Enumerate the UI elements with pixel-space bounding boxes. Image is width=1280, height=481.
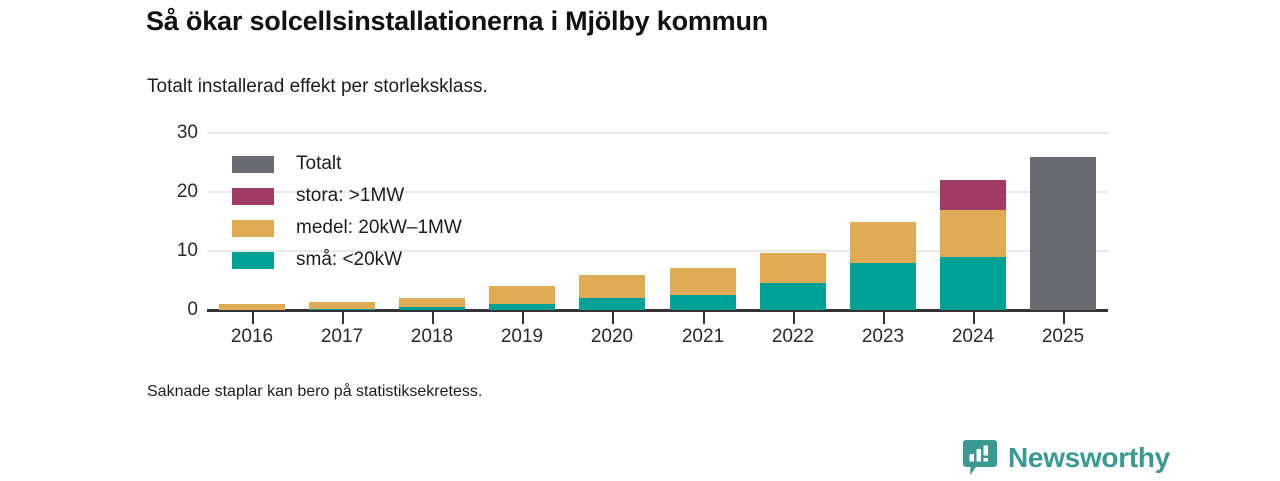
bar-segment: [489, 286, 555, 304]
x-tick-mark: [612, 312, 614, 324]
legend-item[interactable]: stora: >1MW: [232, 180, 462, 212]
brand-name: Newsworthy: [1008, 444, 1170, 472]
bar-segment: [940, 210, 1006, 257]
x-tick-mark: [1063, 312, 1065, 324]
legend-label: medel: 20kW–1MW: [296, 217, 462, 239]
x-tick-mark: [252, 312, 254, 324]
x-tick-label: 2017: [297, 326, 387, 348]
legend-swatch: [232, 252, 274, 269]
x-tick-label: 2016: [207, 326, 297, 348]
gridline-30: [207, 132, 1108, 134]
x-tick-label: 2019: [477, 326, 567, 348]
bar-segment: [760, 283, 826, 310]
bar-segment: [760, 253, 826, 284]
legend-label: små: <20kW: [296, 249, 402, 271]
legend-item[interactable]: Totalt: [232, 148, 462, 180]
x-tick-label: 2018: [387, 326, 477, 348]
chart-canvas: Så ökar solcellsinstallationerna i Mjölb…: [0, 0, 1280, 480]
bar-segment: [219, 304, 285, 310]
y-tick-label: 20: [154, 182, 198, 201]
bar-segment: [309, 309, 375, 310]
bar-segment: [309, 302, 375, 309]
legend-label: Totalt: [296, 153, 341, 175]
bar-segment: [670, 295, 736, 310]
bar-segment: [399, 298, 465, 307]
x-tick-mark: [883, 312, 885, 324]
bar-segment: [940, 257, 1006, 310]
y-tick-label: 30: [154, 123, 198, 142]
legend-swatch: [232, 188, 274, 205]
x-tick-label: 2021: [658, 326, 748, 348]
bar-segment: [489, 304, 555, 310]
legend-item[interactable]: medel: 20kW–1MW: [232, 212, 462, 244]
x-tick-mark: [973, 312, 975, 324]
bar-segment: [850, 222, 916, 263]
bar-segment: [670, 268, 736, 296]
chart-legend: Totaltstora: >1MWmedel: 20kW–1MWsmå: <20…: [232, 148, 462, 276]
chart-title: Så ökar solcellsinstallationerna i Mjölb…: [146, 6, 768, 37]
x-tick-mark: [793, 312, 795, 324]
x-tick-mark: [432, 312, 434, 324]
bar-segment: [399, 307, 465, 310]
legend-item[interactable]: små: <20kW: [232, 244, 462, 276]
x-tick-label: 2022: [748, 326, 838, 348]
newsworthy-logo: Newsworthy: [963, 440, 1170, 476]
x-tick-label: 2025: [1018, 326, 1108, 348]
bar-segment: [850, 263, 916, 310]
legend-swatch: [232, 220, 274, 237]
x-tick-label: 2020: [567, 326, 657, 348]
chart-footnote: Saknade staplar kan bero på statistiksek…: [147, 383, 482, 401]
x-tick-label: 2023: [838, 326, 928, 348]
y-tick-label: 10: [154, 241, 198, 260]
legend-swatch: [232, 156, 274, 173]
x-tick-label: 2024: [928, 326, 1018, 348]
bar-chart-speech-bubble-icon: [963, 440, 997, 476]
bar-segment: [579, 275, 645, 299]
bar-segment: [1030, 157, 1096, 310]
x-tick-mark: [703, 312, 705, 324]
bar-segment: [940, 180, 1006, 210]
x-tick-mark: [342, 312, 344, 324]
chart-subtitle: Totalt installerad effekt per storlekskl…: [147, 76, 488, 98]
x-tick-mark: [522, 312, 524, 324]
bar-segment: [579, 298, 645, 310]
legend-label: stora: >1MW: [296, 185, 404, 207]
y-tick-label: 0: [154, 300, 198, 319]
